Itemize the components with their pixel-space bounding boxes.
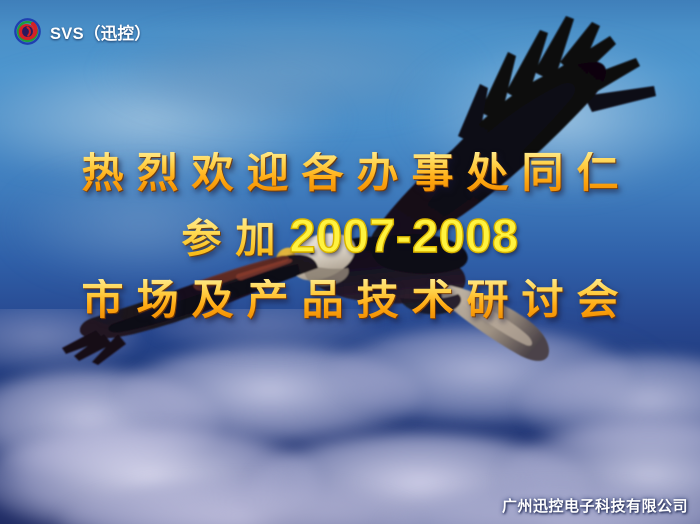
title-line-2-years: 2007-2008 — [289, 209, 518, 262]
title-line-1: 热烈欢迎各办事处同仁 — [0, 152, 700, 194]
title-block: 热烈欢迎各办事处同仁 参加2007-2008 市场及产品技术研讨会 — [0, 152, 700, 321]
cloud-bank-bottom — [0, 309, 700, 524]
svs-spiral-logo-icon — [14, 18, 41, 45]
title-line-3: 市场及产品技术研讨会 — [0, 279, 700, 321]
company-footer: 广州迅控电子科技有限公司 — [502, 495, 688, 516]
presentation-slide: SVS（迅控） 热烈欢迎各办事处同仁 参加2007-2008 市场及产品技术研讨… — [0, 0, 700, 524]
brand-lockup: SVS（迅控） — [14, 18, 151, 45]
brand-name: SVS（迅控） — [50, 20, 151, 44]
title-line-2-prefix: 参加 — [181, 215, 289, 262]
title-line-2: 参加2007-2008 — [0, 212, 700, 259]
